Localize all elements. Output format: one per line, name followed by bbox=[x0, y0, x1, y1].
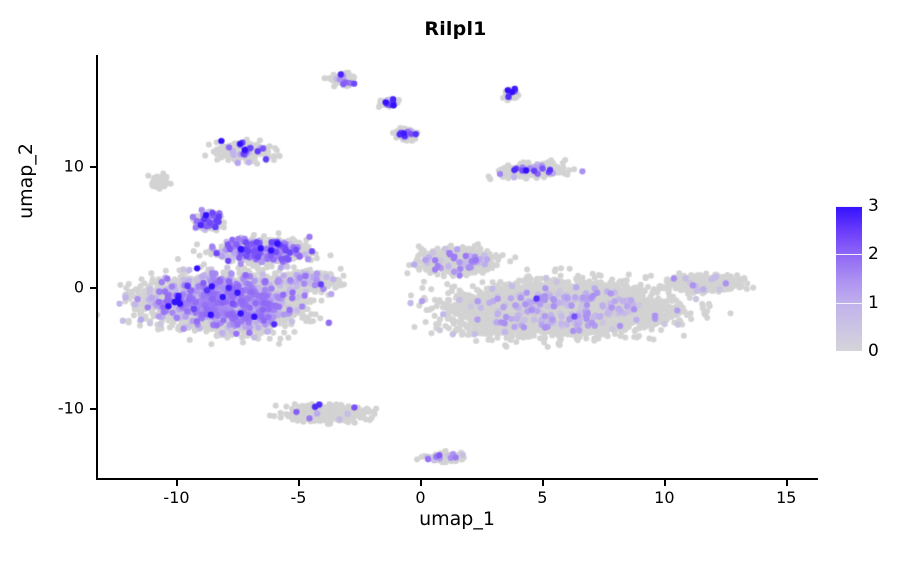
colorbar-tick-mark bbox=[836, 206, 862, 207]
colorbar-tick-mark bbox=[836, 254, 862, 255]
x-tick-label: -10 bbox=[163, 488, 189, 507]
x-tick-label: 15 bbox=[776, 488, 796, 507]
colorbar-tick-label: 3 bbox=[868, 196, 879, 216]
colorbar-tick-mark bbox=[836, 303, 862, 304]
x-tick-label: -5 bbox=[290, 488, 306, 507]
y-tick-mark bbox=[90, 287, 96, 289]
colorbar-tick-label: 1 bbox=[868, 293, 879, 313]
x-tick-label: 0 bbox=[415, 488, 425, 507]
x-tick-mark bbox=[298, 480, 300, 486]
x-tick-mark bbox=[664, 480, 666, 486]
colorbar-tick-label: 0 bbox=[868, 341, 879, 361]
x-tick-mark bbox=[786, 480, 788, 486]
plot-axes bbox=[96, 55, 818, 480]
y-tick-mark bbox=[90, 408, 96, 410]
colorbar-tick-label: 2 bbox=[868, 244, 879, 264]
y-tick-label: 10 bbox=[64, 157, 84, 176]
x-tick-mark bbox=[420, 480, 422, 486]
x-axis-label: umap_1 bbox=[96, 508, 818, 530]
page-title: Rilpl1 bbox=[0, 18, 911, 40]
x-tick-label: 5 bbox=[537, 488, 547, 507]
x-tick-mark bbox=[542, 480, 544, 486]
y-tick-mark bbox=[90, 166, 96, 168]
umap-feature-plot: Rilpl1 -10-5051015 -10010 umap_1 umap_2 … bbox=[0, 0, 911, 562]
x-tick-mark bbox=[176, 480, 178, 486]
x-tick-label: 10 bbox=[654, 488, 674, 507]
colorbar-gradient bbox=[836, 206, 862, 351]
y-axis-label: umap_2 bbox=[15, 111, 37, 251]
colorbar bbox=[836, 206, 862, 351]
y-tick-label: -10 bbox=[58, 398, 84, 417]
y-tick-label: 0 bbox=[74, 277, 84, 296]
scatter-plot-canvas bbox=[98, 55, 818, 478]
